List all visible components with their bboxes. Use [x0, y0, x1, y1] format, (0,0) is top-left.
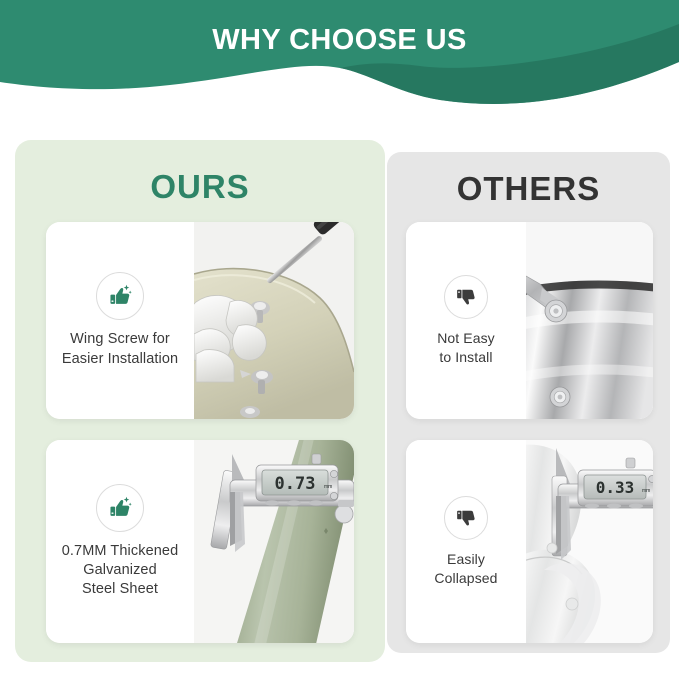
ours-card-1-label: Wing Screw for Easier Installation — [62, 330, 178, 368]
label-line: Easier Installation — [62, 350, 178, 369]
ours-feature-card-1: Wing Screw for Easier Installation — [46, 222, 354, 419]
label-line: Not Easy — [437, 329, 495, 347]
others-heading: OTHERS — [387, 170, 670, 208]
ours-card-1-image — [194, 222, 354, 419]
wing-screw-bottom — [240, 406, 260, 418]
ours-card-2-image: 0.73 mm — [194, 440, 354, 643]
thumbs-down-icon — [444, 275, 488, 319]
thumbs-up-icon — [96, 272, 144, 320]
caliper-measuring-green-panel-photo: 0.73 mm — [194, 440, 354, 643]
wrench-bolts-chrome-panel-photo — [526, 222, 653, 419]
comparison-columns: OURS OTHERS Wing Screw for — [0, 0, 679, 679]
label-line: Easily — [434, 550, 497, 568]
thumbs-up-icon — [96, 484, 144, 532]
label-line: Galvanized — [62, 561, 178, 580]
label-line: Wing Screw for — [62, 330, 178, 349]
bolt-upper — [545, 300, 567, 322]
others-card-2-text: Easily Collapsed — [406, 440, 526, 643]
others-card-1-image — [526, 222, 653, 419]
others-card-2-image: 0.33 mm — [526, 440, 653, 643]
svg-text:mm: mm — [642, 488, 650, 494]
others-card-1-text: Not Easy to Install — [406, 222, 526, 419]
ours-card-2-text: 0.7MM Thickened Galvanized Steel Sheet — [46, 440, 194, 643]
caliper-measuring-white-collapsed-panel-photo: 0.33 mm — [526, 440, 653, 643]
ours-heading: OURS — [15, 168, 385, 206]
wing-screw-installation-photo — [194, 222, 354, 419]
ours-card-1-text: Wing Screw for Easier Installation — [46, 222, 194, 419]
label-line: Steel Sheet — [62, 580, 178, 599]
others-card-1-label: Not Easy to Install — [437, 329, 495, 366]
others-feature-card-1: Not Easy to Install — [406, 222, 653, 419]
caliper-reading-value: 0.33 — [596, 478, 635, 497]
others-feature-card-2: Easily Collapsed — [406, 440, 653, 643]
caliper-reading-value: 0.73 — [275, 474, 316, 494]
ours-feature-card-2: 0.7MM Thickened Galvanized Steel Sheet — [46, 440, 354, 643]
thumbs-down-icon — [444, 496, 488, 540]
label-line: to Install — [437, 348, 495, 366]
others-card-2-label: Easily Collapsed — [434, 550, 497, 587]
thumbs-up-glyph — [106, 494, 134, 522]
thumbs-down-glyph — [453, 505, 479, 531]
bolt-lower — [550, 387, 570, 407]
thumbs-up-glyph — [106, 282, 134, 310]
svg-text:mm: mm — [324, 484, 332, 490]
why-choose-us-comparison-graphic: WHY CHOOSE US OURS OTHERS — [0, 0, 679, 679]
label-line: 0.7MM Thickened — [62, 542, 178, 561]
ours-card-2-label: 0.7MM Thickened Galvanized Steel Sheet — [62, 542, 178, 599]
label-line: Collapsed — [434, 569, 497, 587]
thumbs-down-glyph — [453, 284, 479, 310]
